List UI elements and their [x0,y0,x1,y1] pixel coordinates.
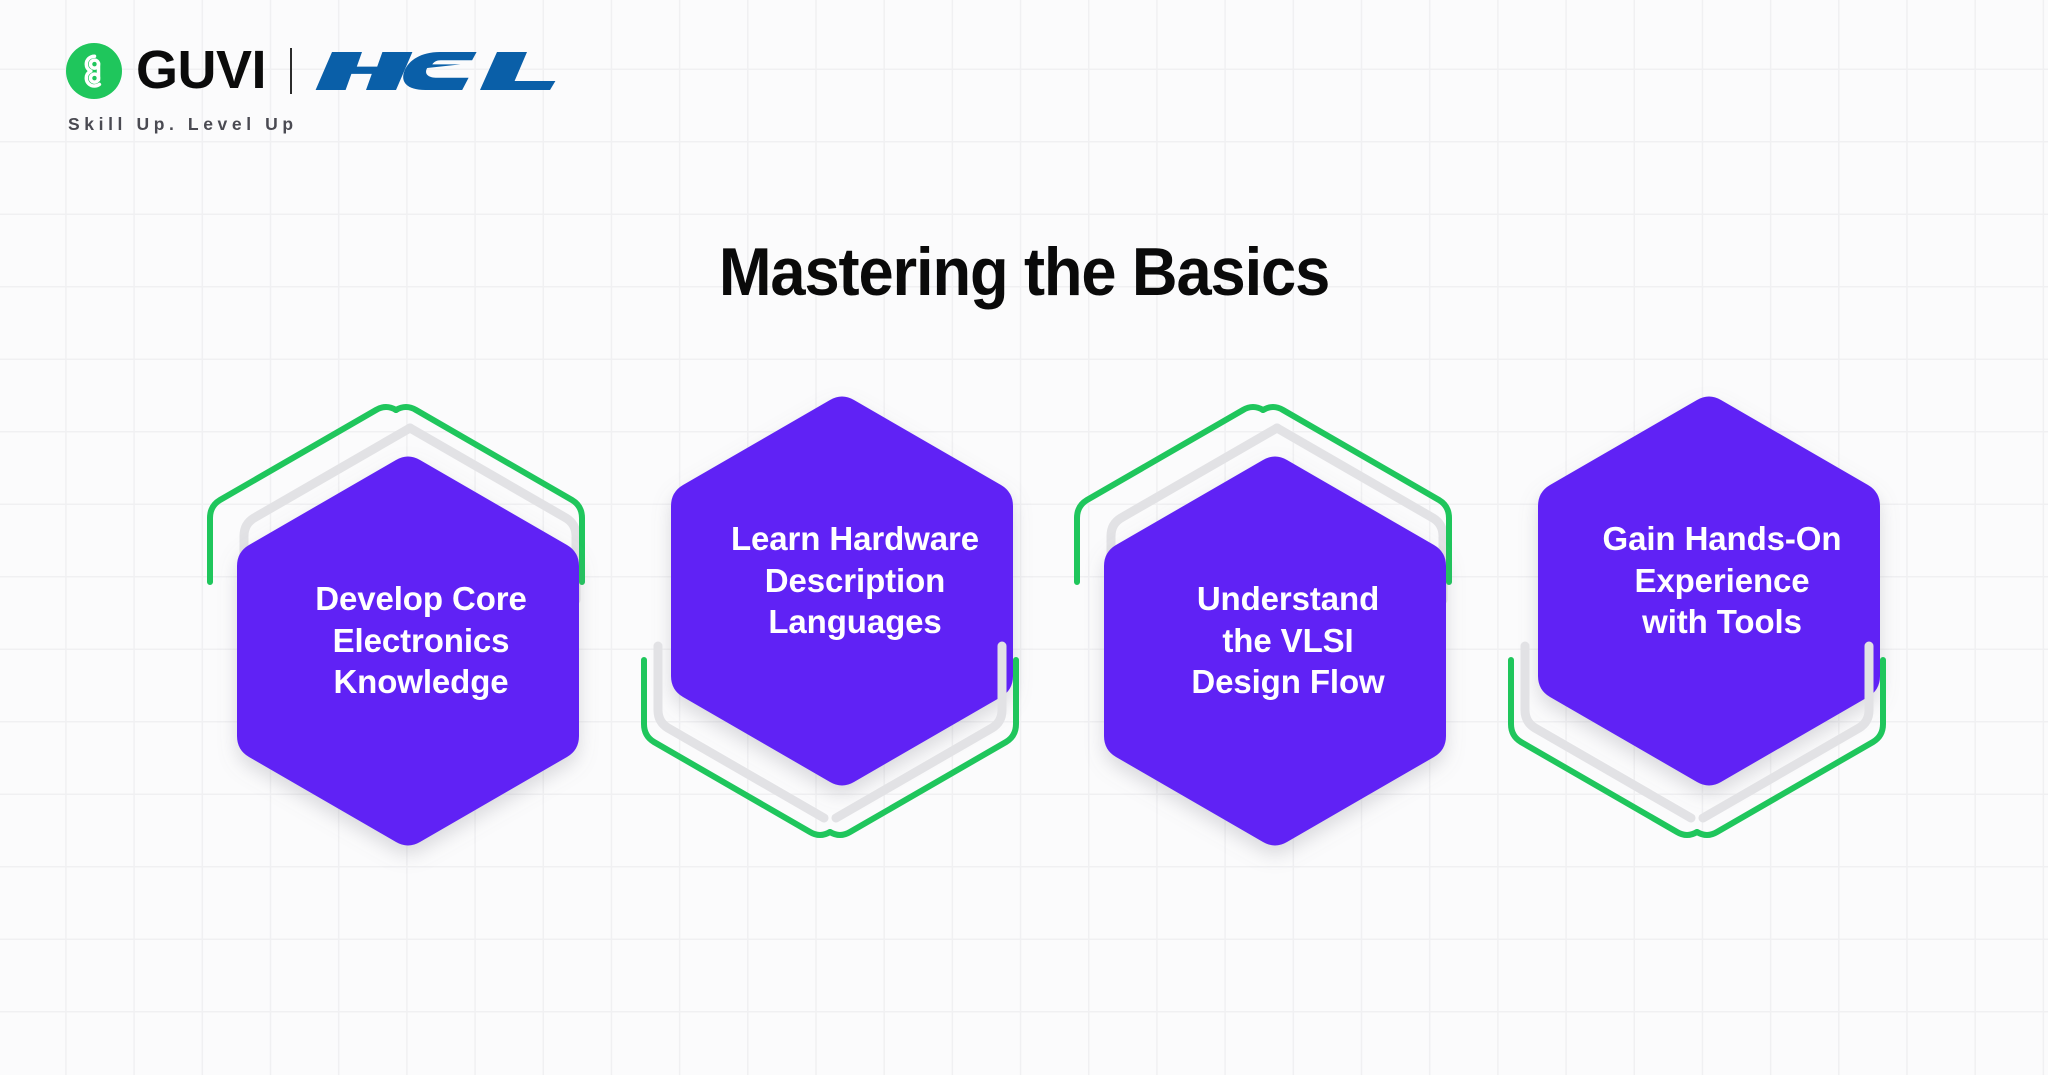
hexagon-card-2[interactable]: Learn Hardware Description Languages [620,372,1090,842]
hexagon-shape-1 [186,400,656,870]
hexagon-shape-4 [1487,372,1957,842]
hexagon-card-3[interactable]: Understand the VLSI Design Flow [1053,400,1523,870]
hexagon-shape-2 [620,372,1090,842]
hexagon-card-1[interactable]: Develop Core Electronics Knowledge [186,400,656,870]
hexagon-card-4[interactable]: Gain Hands-On Experience with Tools [1487,372,1957,842]
hexagon-shape-3 [1053,400,1523,870]
hexagon-row: Develop Core Electronics Knowledge Learn… [0,0,2048,1075]
